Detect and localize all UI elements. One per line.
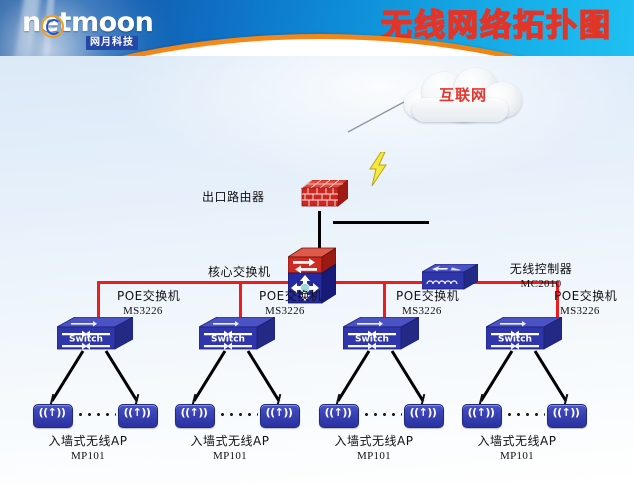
wifi-signal-icon: ((↑)) <box>175 407 213 419</box>
brand-logo[interactable]: netmoon 网月科技 <box>22 9 182 53</box>
egress-router-label: 出口路由器 <box>202 190 265 204</box>
svg-text:Switch: Switch <box>211 335 245 345</box>
poe-switch-3[interactable]: Switch <box>343 317 419 353</box>
wifi-signal-icon: ((↑)) <box>319 407 357 419</box>
wifi-signal-icon: ((↑)) <box>404 407 442 419</box>
access-point-group-4-model: MP101 <box>453 449 581 463</box>
poe-switch-3-label: POE交换机 <box>396 289 459 303</box>
diagram-canvas: 互联网 <box>0 56 634 484</box>
poe-switch-4-label: POE交换机 <box>554 289 617 303</box>
access-point-1b[interactable]: ((↑)) <box>118 400 156 426</box>
access-point-1a[interactable]: ((↑)) <box>33 400 71 426</box>
poe-switch-2[interactable]: Switch <box>199 317 275 353</box>
access-point-group-3-model: MP101 <box>310 449 438 463</box>
access-point-group-3-label: 入墙式无线AP <box>310 434 438 448</box>
svg-text:Switch: Switch <box>498 335 532 345</box>
ap-link-dots-1 <box>76 413 116 416</box>
access-point-group-1-model: MP101 <box>24 449 152 463</box>
wifi-signal-icon: ((↑)) <box>462 407 500 419</box>
ap-link-dots-2 <box>218 413 258 416</box>
access-point-3a[interactable]: ((↑)) <box>319 400 357 426</box>
access-point-group-2-model: MP101 <box>166 449 294 463</box>
access-point-2a[interactable]: ((↑)) <box>175 400 213 426</box>
logo-subtitle: 网月科技 <box>86 36 138 50</box>
poe-switch-4-model: MS3226 <box>560 304 600 318</box>
poe-switch-2-model: MS3226 <box>265 304 305 318</box>
access-point-2b[interactable]: ((↑)) <box>260 400 298 426</box>
poe-switch-1[interactable]: Switch <box>57 317 133 353</box>
ap-link-dots-3 <box>362 413 402 416</box>
lightning-bolt-icon <box>367 152 389 186</box>
access-point-group-1-label: 入墙式无线AP <box>24 434 152 448</box>
wifi-signal-icon: ((↑)) <box>118 407 156 419</box>
core-switch-label: 核心交换机 <box>208 265 271 279</box>
poe-switch-1-label: POE交换机 <box>117 289 180 303</box>
svg-text:Switch: Switch <box>355 335 389 345</box>
svg-text:Switch: Switch <box>69 335 103 345</box>
poe-switch-1-model: MS3226 <box>123 304 163 318</box>
internet-cloud[interactable]: 互联网 <box>398 68 528 124</box>
access-point-group-4-label: 入墙式无线AP <box>453 434 581 448</box>
wifi-signal-icon: ((↑)) <box>33 407 71 419</box>
wifi-signal-icon: ((↑)) <box>547 407 585 419</box>
poe-switch-4[interactable]: Switch <box>486 317 562 353</box>
egress-router[interactable] <box>292 180 348 214</box>
wireless-controller-label: 无线控制器 <box>486 262 596 276</box>
poe-switch-3-model: MS3226 <box>402 304 442 318</box>
poe-switch-2-label: POE交换机 <box>259 289 322 303</box>
access-point-4a[interactable]: ((↑)) <box>462 400 500 426</box>
wifi-signal-icon: ((↑)) <box>260 407 298 419</box>
internet-label: 互联网 <box>398 84 528 105</box>
topology-diagram-page: netmoon 网月科技 无线网络拓扑图 <box>0 0 634 484</box>
access-point-group-2-label: 入墙式无线AP <box>166 434 294 448</box>
logo-ring-icon <box>41 15 64 38</box>
ap-link-dots-4 <box>505 413 545 416</box>
access-point-4b[interactable]: ((↑)) <box>547 400 585 426</box>
access-point-3b[interactable]: ((↑)) <box>404 400 442 426</box>
